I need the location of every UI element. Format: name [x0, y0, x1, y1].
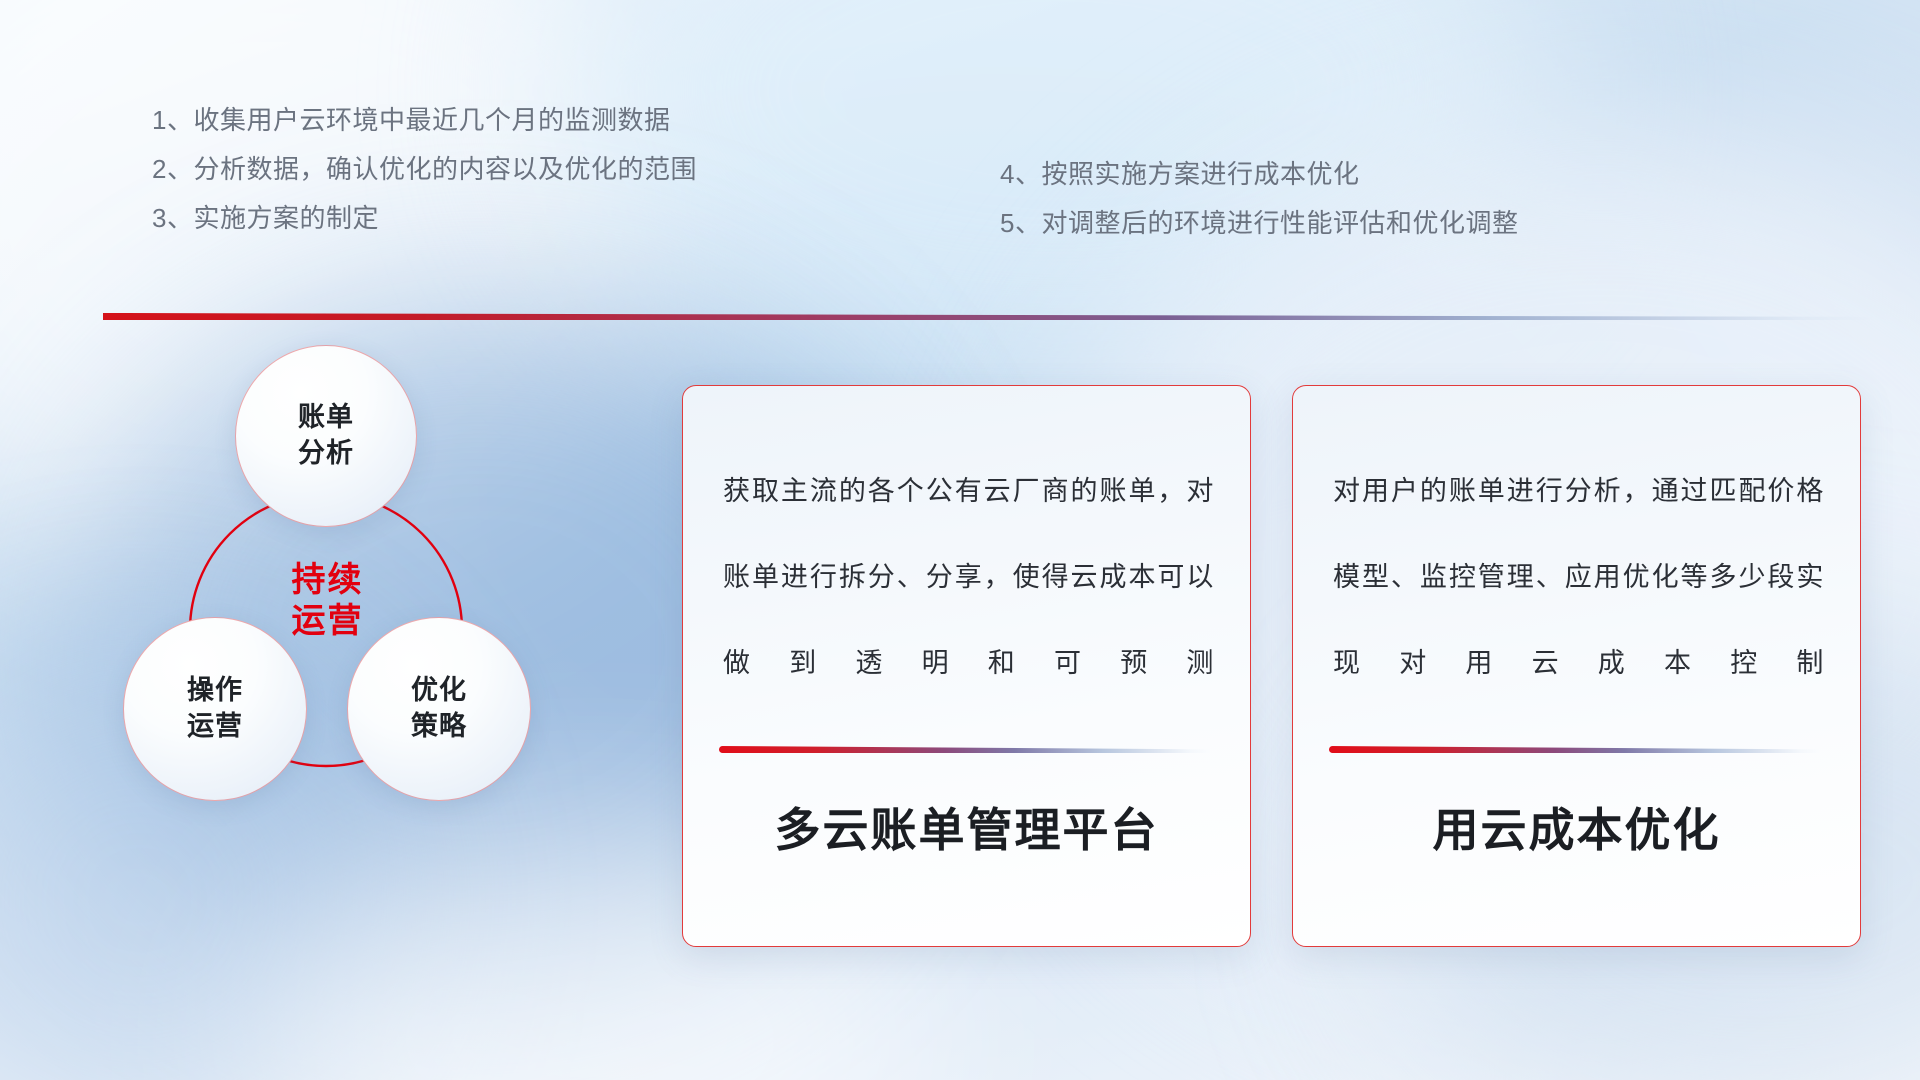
- process-step-2: 2、分析数据，确认优化的内容以及优化的范围: [152, 145, 697, 194]
- feature-card-2-rule: [1329, 746, 1821, 753]
- feature-card-multicloud-billing[interactable]: 获取主流的各个公有云厂商的账单，对账单进行拆分、分享，使得云成本可以做到透明和可…: [682, 385, 1251, 947]
- process-step-4: 4、按照实施方案进行成本优化: [1000, 150, 1518, 199]
- feature-card-cloud-cost-optimization[interactable]: 对用户的账单进行分析，通过匹配价格模型、监控管理、应用优化等多少段实现对用云成本…: [1292, 385, 1861, 947]
- venn-lobe-top-label: 账单 分析: [298, 400, 354, 471]
- feature-card-1-rule: [719, 746, 1211, 753]
- process-step-5: 5、对调整后的环境进行性能评估和优化调整: [1000, 199, 1518, 248]
- process-step-1: 1、收集用户云环境中最近几个月的监测数据: [152, 96, 697, 145]
- process-steps-right: 4、按照实施方案进行成本优化 5、对调整后的环境进行性能评估和优化调整: [1000, 150, 1518, 248]
- venn-lobe-billing-analysis[interactable]: 账单 分析: [235, 345, 417, 527]
- venn-center-line-1: 持续: [240, 560, 415, 601]
- venn-lobe-left-label: 操作 运营: [187, 673, 243, 744]
- venn-lobe-optimization-strategy[interactable]: 优化 策略: [347, 617, 531, 801]
- feature-card-1-title: 多云账单管理平台: [683, 794, 1250, 860]
- venn-lobe-operations[interactable]: 操作 运营: [123, 617, 307, 801]
- feature-card-2-body: 对用户的账单进行分析，通过匹配价格模型、监控管理、应用优化等多少段实现对用云成本…: [1333, 448, 1824, 706]
- feature-card-1-body: 获取主流的各个公有云厂商的账单，对账单进行拆分、分享，使得云成本可以做到透明和可…: [723, 448, 1214, 706]
- process-steps-left: 1、收集用户云环境中最近几个月的监测数据 2、分析数据，确认优化的内容以及优化的…: [152, 96, 697, 243]
- venn-center-label: 持续 运营: [240, 560, 415, 643]
- venn-lobe-right-label: 优化 策略: [411, 673, 467, 744]
- process-step-3: 3、实施方案的制定: [152, 194, 697, 243]
- feature-card-2-title: 用云成本优化: [1293, 794, 1860, 860]
- venn-center-line-2: 运营: [240, 601, 415, 642]
- venn-diagram: 账单 分析 操作 运营 优化 策略 持续 运营: [95, 345, 640, 935]
